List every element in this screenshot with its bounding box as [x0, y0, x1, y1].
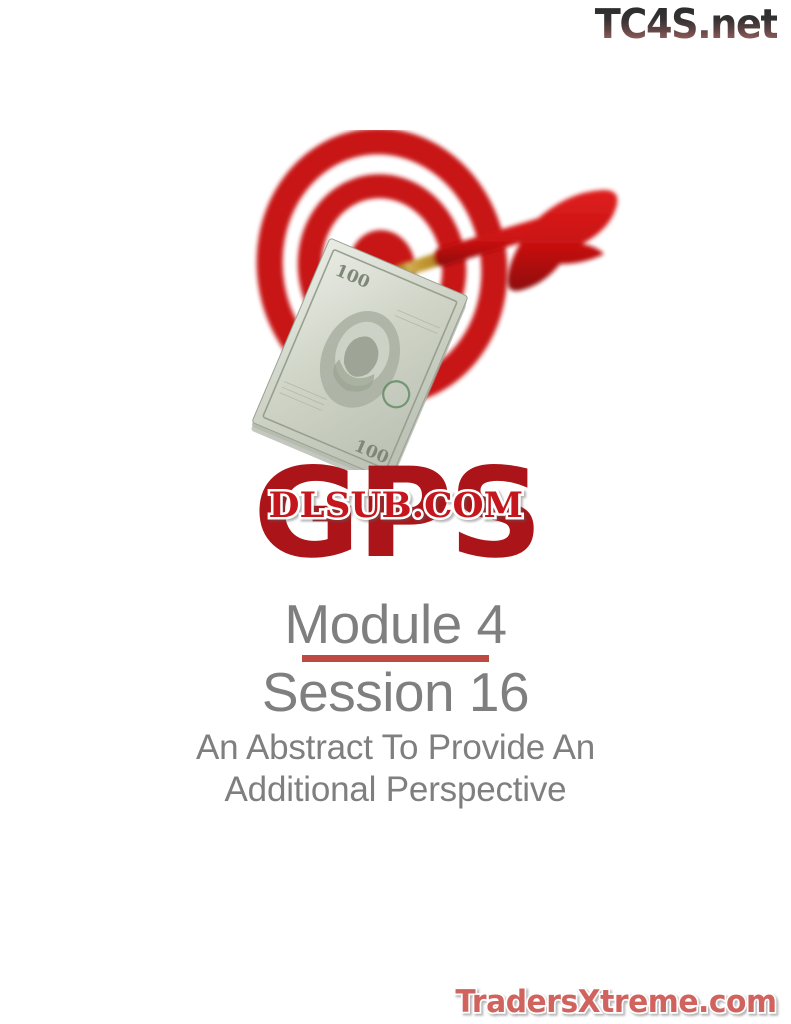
- subtitle-line-2: Additional Perspective: [0, 769, 791, 810]
- target-dart-money-illustration: 100 100: [0, 130, 791, 470]
- tc4s-logo: TC4S.net: [594, 4, 777, 45]
- title-page: TC4S.net: [0, 0, 791, 1024]
- module-title: Module 4: [0, 596, 791, 653]
- session-title: Session 16: [0, 663, 791, 721]
- gps-wordmark: GPS: [252, 452, 538, 576]
- subtitle-line-1: An Abstract To Provide An: [0, 727, 791, 768]
- hero-svg: 100 100: [0, 130, 791, 470]
- title-block: Module 4 Session 16 An Abstract To Provi…: [0, 596, 791, 810]
- subtitle: An Abstract To Provide An Additional Per…: [0, 727, 791, 810]
- tradersxtreme-logo: TradersXtreme.com: [456, 987, 777, 1018]
- gps-wordmark-block: GPS DLSUB.COM: [0, 452, 791, 592]
